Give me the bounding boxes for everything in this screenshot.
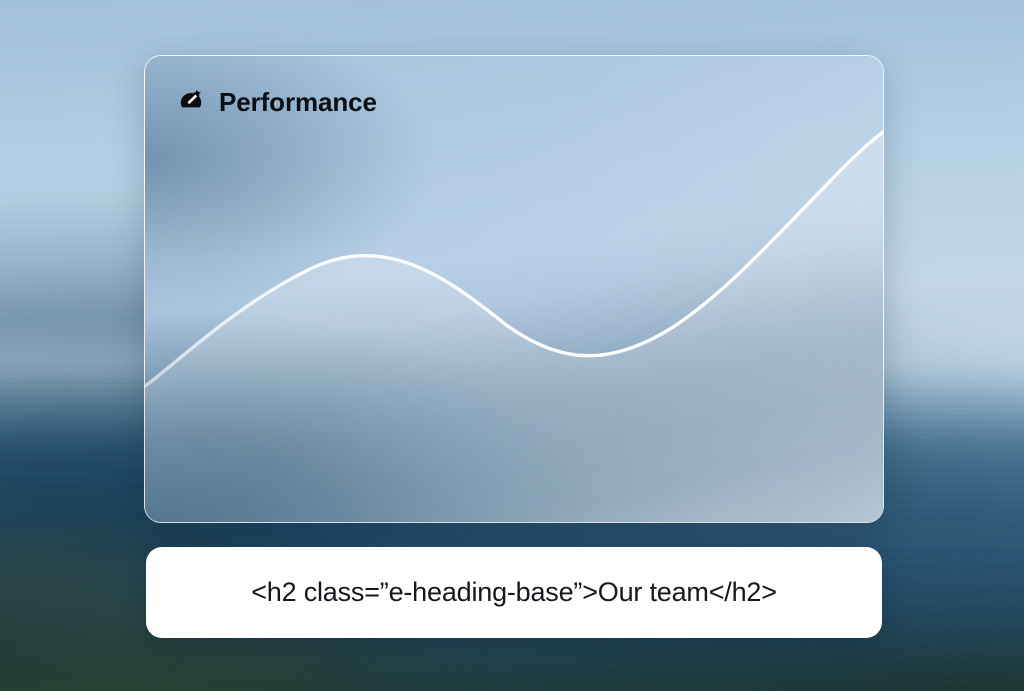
code-snippet-text: <h2 class=”e-heading-base”>Our team</h2> bbox=[251, 579, 777, 606]
chart-area-fill bbox=[145, 132, 883, 522]
card-title: Performance bbox=[219, 89, 377, 115]
card-header: Performance bbox=[176, 87, 377, 117]
performance-card[interactable]: Performance bbox=[144, 55, 884, 523]
screen-root: Performance <h2 class=”e-heading-base”>O… bbox=[0, 0, 1024, 691]
performance-gauge-icon bbox=[176, 87, 206, 117]
code-snippet-chip[interactable]: <h2 class=”e-heading-base”>Our team</h2> bbox=[146, 547, 882, 638]
performance-area-chart bbox=[145, 56, 883, 522]
